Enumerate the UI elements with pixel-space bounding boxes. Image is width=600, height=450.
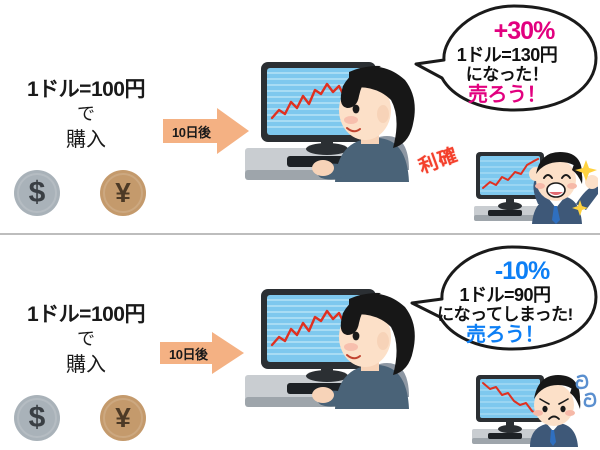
desk-scene-loss — [243, 279, 433, 449]
bubble-rate-gain: 1ドル=130円 — [457, 45, 558, 65]
bubble-percent-loss: -10% — [495, 257, 549, 285]
dollar-coin-icon: $ — [14, 395, 60, 441]
speech-bubble-loss-text: -10% 1ドル=90円 になってしまった! 売ろう！ — [410, 243, 600, 357]
infographic-canvas: 1ドル=100円 で 購入 $ ¥ 10日後 — [0, 0, 600, 450]
bubble-percent-gain: +30% — [494, 17, 555, 45]
dollar-coin-symbol: $ — [29, 403, 46, 433]
purchase-particle-line: で — [6, 330, 166, 350]
purchase-particle-line: で — [6, 105, 166, 125]
purchase-rate-line: 1ドル=100円 — [6, 78, 166, 101]
bubble-rate-loss: 1ドル=90円 — [459, 285, 550, 305]
purchase-statement-gain: 1ドル=100円 で 購入 — [6, 78, 166, 151]
bubble-became-gain: になった！ — [466, 65, 549, 84]
bubble-sell-loss: 売ろう！ — [466, 324, 544, 346]
speech-bubble-gain-text: +30% 1ドル=130円 になった！ 売ろう！ — [414, 2, 600, 118]
dollar-coin-icon: $ — [14, 170, 60, 216]
speech-bubble-loss: -10% 1ドル=90円 になってしまった! 売ろう！ — [410, 243, 600, 357]
bubble-became-loss: になってしまった! — [437, 305, 573, 324]
yen-coin-icon: ¥ — [100, 170, 146, 216]
arrow-label-loss: 10日後 — [160, 332, 244, 374]
arrow-label-gain: 10日後 — [163, 108, 249, 154]
yen-coin-icon: ¥ — [100, 395, 146, 441]
panel-gain-scenario: 1ドル=100円 で 購入 $ ¥ 10日後 — [0, 0, 600, 225]
man-at-monitor-illustration — [243, 52, 433, 222]
discouraged-businessman-illustration — [472, 371, 598, 447]
time-arrow-gain: 10日後 — [163, 108, 249, 154]
time-arrow-loss: 10日後 — [160, 332, 244, 374]
purchase-rate-line: 1ドル=100円 — [6, 303, 166, 326]
panel-loss-scenario: 1ドル=100円 で 購入 $ ¥ 10日後 — [0, 225, 600, 450]
yen-coin-symbol: ¥ — [115, 404, 131, 432]
purchase-statement-loss: 1ドル=100円 で 購入 — [6, 303, 166, 376]
purchase-action-line: 購入 — [6, 354, 166, 376]
desk-scene-gain — [243, 52, 433, 222]
celebrating-businessman-illustration — [474, 148, 598, 224]
man-at-monitor-illustration — [243, 279, 433, 449]
reaction-sad-loss — [472, 371, 598, 447]
speech-bubble-gain: +30% 1ドル=130円 になった！ 売ろう！ — [414, 2, 600, 118]
yen-coin-symbol: ¥ — [115, 179, 131, 207]
dollar-coin-symbol: $ — [29, 178, 46, 208]
reaction-happy-gain — [474, 148, 598, 224]
bubble-sell-gain: 売ろう！ — [468, 84, 546, 106]
purchase-action-line: 購入 — [6, 129, 166, 151]
